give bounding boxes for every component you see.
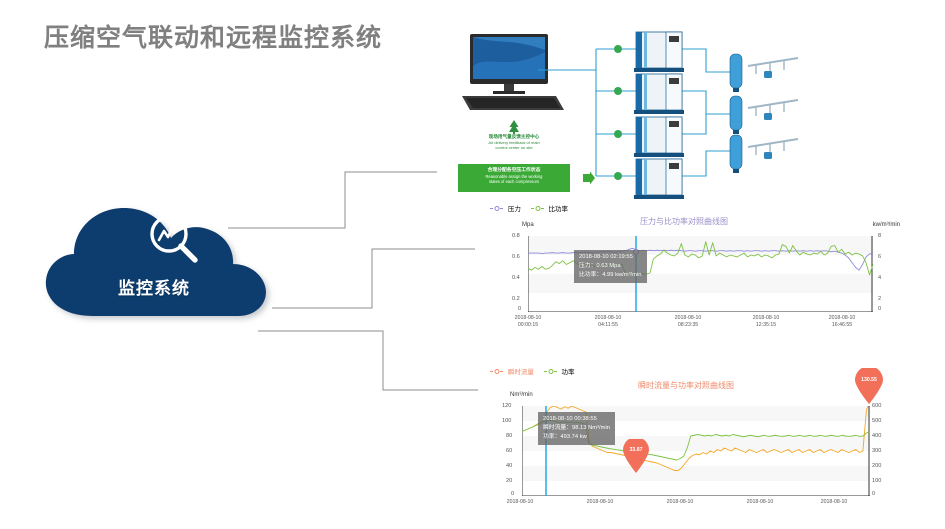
- slide-canvas: 压缩空气联动和远程监控系统 监控系统: [0, 0, 945, 529]
- flow-power-chart-legend[interactable]: 瞬时流量 功率: [490, 366, 582, 376]
- pressure-chart-title: 压力与比功率对照曲线图: [640, 216, 728, 227]
- ytick-left-4: 0: [518, 306, 521, 312]
- legend-item-specific-power[interactable]: 比功率: [531, 203, 568, 213]
- f-xtick-0-date: 2018-08-10: [488, 499, 552, 506]
- xtick-3: 2018-08-10 12:35:15: [734, 315, 798, 328]
- xtick-2-time: 08:23:35: [656, 322, 720, 329]
- pressure-chart-tooltip: 2018-08-10 02:19:55 压力：0.63 Mpa 比功率：4.99…: [574, 250, 647, 283]
- tooltip-timestamp: 2018-08-10 02:19:55: [579, 253, 642, 262]
- xtick-4: 2018-08-10 16:46:55: [810, 315, 874, 328]
- xtick-3-time: 12:35:15: [734, 322, 798, 329]
- pressure-right-axis-unit: kw/m³/min: [873, 222, 900, 228]
- f-xtick-1: 2018-08-10: [568, 499, 632, 506]
- legend-item-pressure[interactable]: 压力: [490, 203, 521, 213]
- f-ytick-left-4: 40: [506, 463, 512, 469]
- tooltip-line-specific-power: 比功率：4.99 kw/m³/min: [579, 271, 642, 280]
- ytick-right-3: 2: [878, 296, 881, 302]
- f-ytick-right-6: 0: [872, 491, 875, 497]
- ytick-right-4: 0: [878, 306, 881, 312]
- f-xtick-4-date: 2018-08-10: [802, 499, 866, 506]
- tooltip-line-pressure: 压力：0.63 Mpa: [579, 262, 642, 271]
- f-xtick-2-date: 2018-08-10: [648, 499, 712, 506]
- f-tooltip-line-flow: 瞬时流量：98.13 Nm³/min: [543, 424, 610, 433]
- f-xtick-2: 2018-08-10: [648, 499, 712, 506]
- ytick-right-1: 6: [878, 254, 881, 260]
- cloud-label: 监控系统: [30, 274, 278, 299]
- ytick-left-1: 0.6: [512, 254, 520, 260]
- ytick-right-0: 8: [878, 233, 881, 239]
- f-xtick-3-date: 2018-08-10: [728, 499, 792, 506]
- f-ytick-right-5: 100: [872, 478, 881, 484]
- f-xtick-0: 2018-08-10: [488, 499, 552, 506]
- f-ytick-left-3: 60: [506, 448, 512, 454]
- pressure-left-axis-unit: Mpa: [522, 222, 534, 228]
- ytick-left-0: 0.8: [512, 233, 520, 239]
- legend-label-power: 功率: [561, 369, 574, 376]
- flow-power-chart-panel: 瞬时流量 功率 瞬时流量与功率对照曲线图 Nm³/min 120 100 80 …: [480, 362, 900, 529]
- legend-marker-specific-power: [531, 205, 545, 212]
- legend-label-flow: 瞬时流量: [508, 369, 534, 376]
- legend-label-pressure: 压力: [508, 206, 521, 213]
- xtick-1-time: 04:11:55: [576, 322, 640, 329]
- legend-marker-flow: [490, 368, 504, 375]
- ytick-right-2: 4: [878, 275, 881, 281]
- compressed-air-system-diagram: 现场用气量反馈主控中心 Air delivery feedback of mai…: [430, 16, 942, 206]
- ytick-left-3: 0.2: [512, 296, 520, 302]
- legend-marker-pressure: [490, 205, 504, 212]
- monitoring-cloud[interactable]: 监控系统: [30, 188, 292, 328]
- f-tooltip-timestamp: 2018-08-10 00:38:55: [543, 415, 610, 424]
- f-ytick-right-4: 200: [872, 463, 881, 469]
- flow-left-axis-unit: Nm³/min: [510, 392, 533, 398]
- legend-marker-power: [544, 368, 558, 375]
- pressure-chart-panel: 压力 比功率 压力与比功率对照曲线图 Mpa kw/m³/min 0.8 0.6…: [480, 200, 900, 335]
- f-ytick-right-2: 400: [872, 433, 881, 439]
- xtick-2: 2018-08-10 08:23:35: [656, 315, 720, 328]
- f-ytick-left-2: 80: [506, 433, 512, 439]
- xtick-0: 2018-08-10 00:00:15: [496, 315, 560, 328]
- diagram-piping: [430, 16, 942, 206]
- flow-power-chart-tooltip: 2018-08-10 00:38:55 瞬时流量：98.13 Nm³/min 功…: [538, 412, 615, 445]
- f-ytick-left-0: 120: [502, 403, 511, 409]
- xtick-4-time: 16:46:55: [810, 322, 874, 329]
- f-xtick-4: 2018-08-10: [802, 499, 866, 506]
- f-ytick-right-1: 500: [872, 418, 881, 424]
- f-ytick-right-3: 300: [872, 448, 881, 454]
- xtick-0-time: 00:00:15: [496, 322, 560, 329]
- max-value-marker-label: 130.55: [855, 377, 883, 383]
- pressure-chart-legend[interactable]: 压力 比功率: [490, 203, 576, 213]
- f-xtick-1-date: 2018-08-10: [568, 499, 632, 506]
- chart-magnifier-icon: [145, 210, 201, 266]
- f-ytick-left-5: 20: [506, 478, 512, 484]
- f-tooltip-line-power: 功率：493.74 kw: [543, 433, 610, 442]
- ytick-left-2: 0.4: [512, 275, 520, 281]
- min-value-marker-label: 33.87: [623, 447, 649, 453]
- min-value-marker[interactable]: [623, 439, 649, 473]
- f-ytick-left-6: 0: [511, 491, 514, 497]
- f-ytick-left-1: 100: [502, 418, 511, 424]
- legend-item-flow[interactable]: 瞬时流量: [490, 366, 534, 376]
- legend-label-specific-power: 比功率: [548, 206, 568, 213]
- xtick-1: 2018-08-10 04:11:55: [576, 315, 640, 328]
- max-value-marker[interactable]: [855, 368, 883, 404]
- legend-item-power[interactable]: 功率: [544, 366, 575, 376]
- flow-power-chart-title: 瞬时流量与功率对照曲线图: [638, 380, 734, 391]
- f-xtick-3: 2018-08-10: [728, 499, 792, 506]
